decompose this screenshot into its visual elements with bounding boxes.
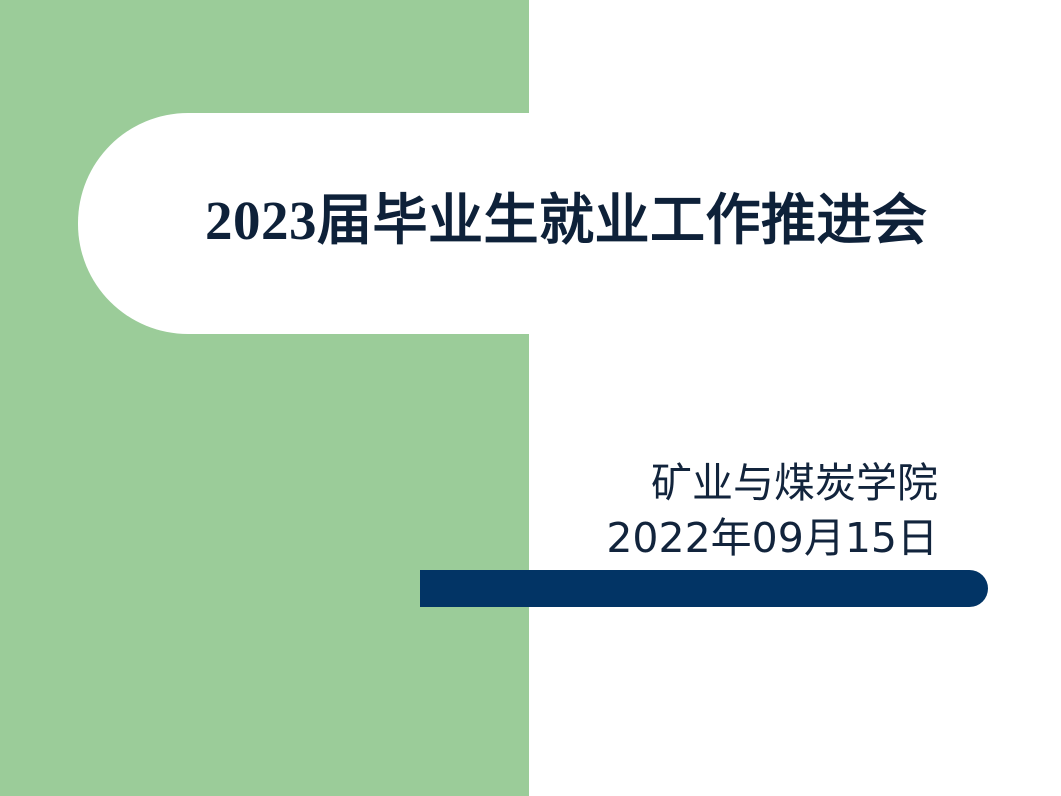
subtitle-block: 矿业与煤炭学院 2022年09月15日 [606, 456, 938, 566]
subtitle-date: 2022年09月15日 [606, 511, 938, 566]
presentation-slide: 2023届毕业生就业工作推进会 矿业与煤炭学院 2022年09月15日 [0, 0, 1061, 796]
accent-bar [420, 570, 988, 607]
subtitle-organization: 矿业与煤炭学院 [606, 456, 938, 511]
slide-title: 2023届毕业生就业工作推进会 [205, 186, 965, 256]
